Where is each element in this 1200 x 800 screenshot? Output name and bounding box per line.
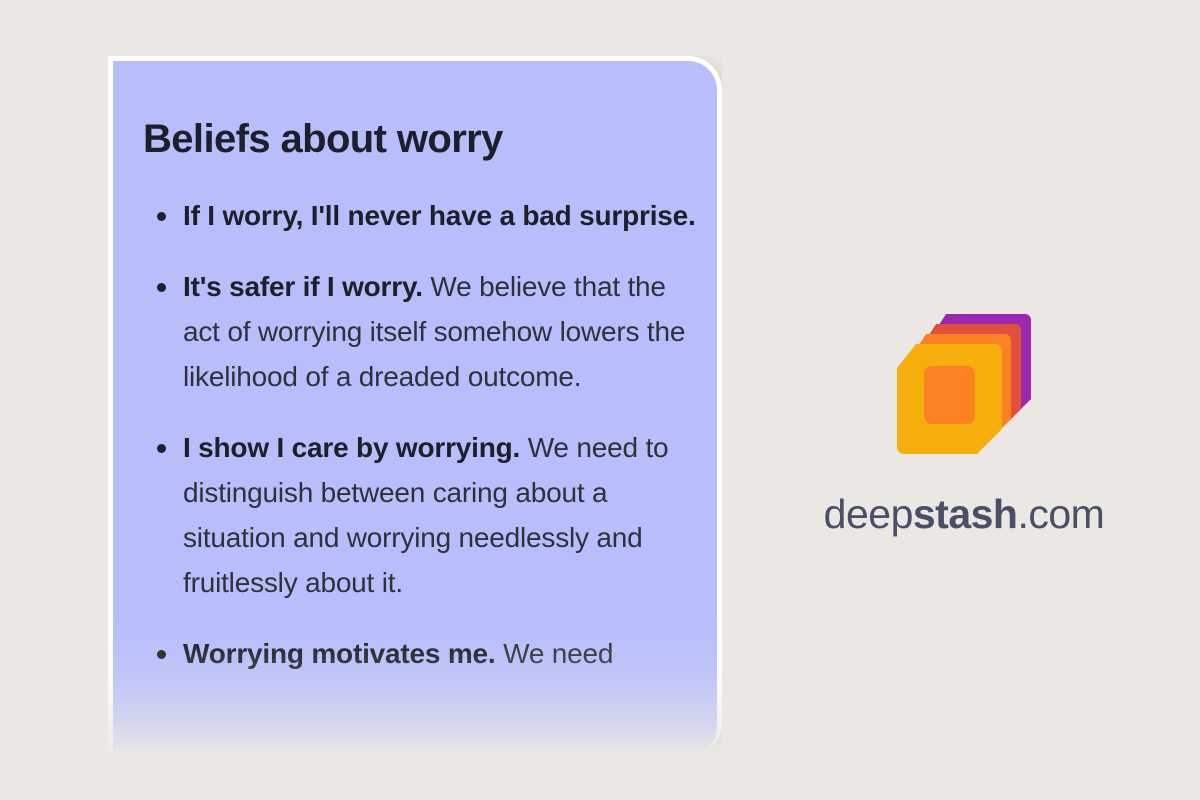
bullet-icon	[157, 444, 166, 453]
bullet-icon	[157, 650, 166, 659]
belief-lead-text: I show I care by worrying.	[183, 432, 520, 463]
belief-card-wrapper: Beliefs about worry If I worry, I'll nev…	[108, 56, 722, 756]
wordmark-deep: deep	[824, 491, 913, 537]
list-item: Worrying motivates me. We need	[143, 631, 697, 676]
belief-body-text: We need	[496, 638, 614, 669]
brand-block: deepstash.com	[812, 312, 1116, 535]
belief-lead-text: Worrying motivates me.	[183, 638, 496, 669]
bullet-icon	[157, 283, 166, 292]
deepstash-stacked-cube-logo	[894, 312, 1034, 454]
card-content: Beliefs about worry If I worry, I'll nev…	[113, 61, 717, 702]
page-title: Beliefs about worry	[143, 119, 697, 159]
belief-card[interactable]: Beliefs about worry If I worry, I'll nev…	[113, 61, 717, 756]
list-item: If I worry, I'll never have a bad surpri…	[143, 193, 697, 238]
belief-lead-text: If I worry, I'll never have a bad surpri…	[183, 200, 696, 231]
wordmark-tld: .com	[1017, 491, 1104, 537]
list-item: I show I care by worrying. We need to di…	[143, 425, 697, 605]
belief-lead-text: It's safer if I worry.	[183, 271, 423, 302]
bullet-icon	[157, 212, 166, 221]
wordmark-stash: stash	[913, 491, 1018, 537]
list-item: It's safer if I worry. We believe that t…	[143, 264, 697, 399]
brand-wordmark[interactable]: deepstash.com	[812, 494, 1116, 535]
belief-list: If I worry, I'll never have a bad surpri…	[143, 193, 697, 676]
